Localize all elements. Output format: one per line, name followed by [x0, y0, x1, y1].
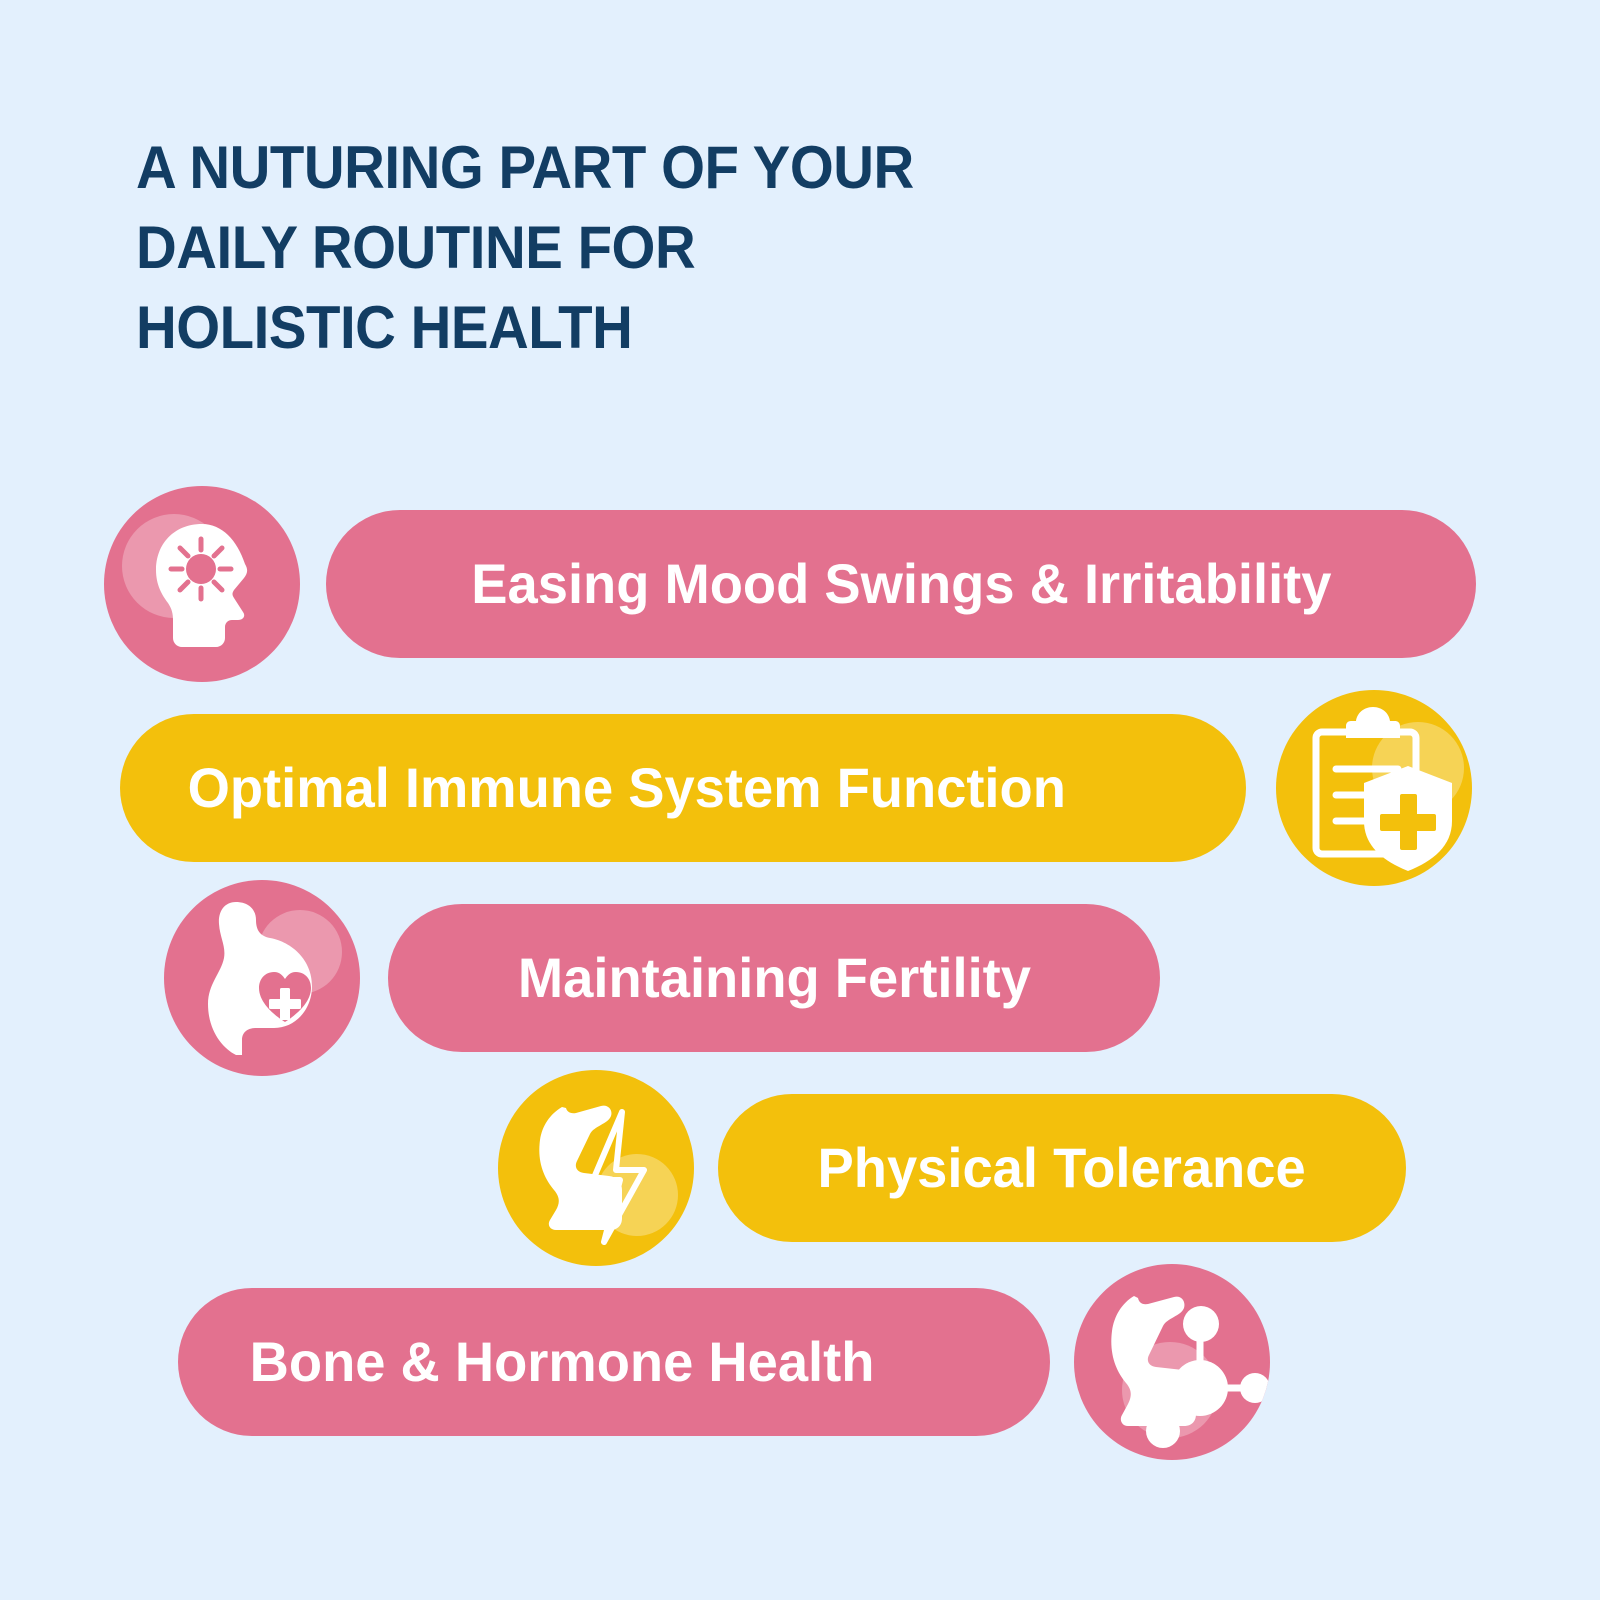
benefit-label: Bone & Hormone Health: [250, 1334, 875, 1390]
title-line-3: HOLISTIC HEALTH: [136, 288, 1076, 368]
benefit-row-immune-system: Optimal Immune System Function: [120, 688, 1472, 888]
benefit-pill-bone-hormone[interactable]: Bone & Hormone Health: [178, 1288, 1050, 1436]
infographic-canvas: A NUTURING PART OF YOUR DAILY ROUTINE FO…: [0, 0, 1600, 1600]
benefit-row-physical-tolerance: Physical Tolerance: [498, 1068, 1406, 1268]
benefit-pill-fertility[interactable]: Maintaining Fertility: [388, 904, 1160, 1052]
head-brain-sun-glyph: [104, 486, 300, 682]
benefit-label: Maintaining Fertility: [517, 950, 1030, 1006]
flexing-arm-lightning-icon: [498, 1070, 694, 1266]
page-title: A NUTURING PART OF YOUR DAILY ROUTINE FO…: [136, 128, 1136, 368]
benefit-row-fertility: Maintaining Fertility: [164, 878, 1160, 1078]
clipboard-shield-cross-glyph: [1276, 690, 1472, 886]
benefit-label: Physical Tolerance: [818, 1140, 1306, 1196]
benefit-pill-physical-tolerance[interactable]: Physical Tolerance: [718, 1094, 1406, 1242]
title-line-2: DAILY ROUTINE FOR: [136, 208, 1076, 288]
flexing-arm-molecule-icon: [1074, 1264, 1270, 1460]
title-line-1: A NUTURING PART OF YOUR: [136, 128, 1076, 208]
benefit-pill-mood-swings[interactable]: Easing Mood Swings & Irritability: [326, 510, 1476, 658]
benefit-row-mood-swings: Easing Mood Swings & Irritability: [104, 484, 1476, 684]
benefit-row-bone-hormone: Bone & Hormone Health: [178, 1262, 1270, 1462]
benefit-label: Easing Mood Swings & Irritability: [471, 556, 1331, 612]
flexing-arm-lightning-glyph: [498, 1070, 694, 1266]
flexing-arm-molecule-glyph: [1074, 1264, 1270, 1460]
benefit-label: Optimal Immune System Function: [188, 760, 1066, 816]
pregnant-woman-heart-cross-glyph: [164, 880, 360, 1076]
benefit-pill-immune-system[interactable]: Optimal Immune System Function: [120, 714, 1246, 862]
pregnant-woman-heart-cross-icon: [164, 880, 360, 1076]
head-brain-sun-icon: [104, 486, 300, 682]
clipboard-shield-cross-icon: [1276, 690, 1472, 886]
